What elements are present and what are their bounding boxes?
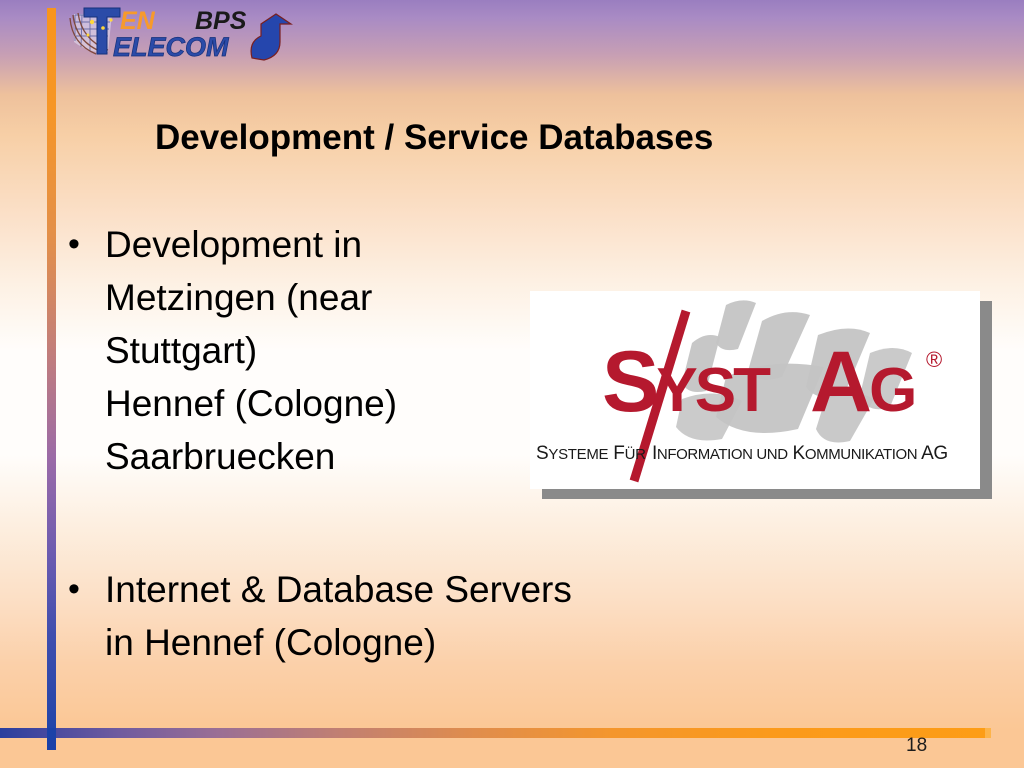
logo-word-en: EN	[120, 7, 156, 35]
image-card: SYST AG ® SYSTEME FÜR INFORMATION UND KO…	[530, 291, 980, 489]
bottom-bar-end-cap	[985, 728, 991, 738]
slide-canvas: EN ELECOM BPS Development / Service Data…	[0, 0, 1024, 768]
bullet-line-text: Internet & Database Servers	[105, 563, 748, 616]
bullet-line-text: Metzingen (near	[68, 271, 498, 324]
bullet-line-text: Hennef (Cologne)	[68, 377, 498, 430]
bullet-first-line: • Development in	[68, 218, 498, 271]
bullet-first-line: • Internet & Database Servers	[68, 563, 748, 616]
logo-word-elecom: ELECOM	[113, 32, 229, 62]
left-vertical-accent-bar	[47, 8, 56, 738]
bullet-marker-icon: •	[68, 563, 105, 616]
registered-trademark-icon: ®	[926, 347, 942, 372]
bullet-marker-icon: •	[68, 218, 105, 271]
page-number: 18	[906, 735, 927, 757]
bullet-line-text: Development in	[105, 218, 498, 271]
syst-tagline-right: INFORMATION UND KOMMUNIKATION AG	[652, 443, 948, 464]
bullet-item-2: • Internet & Database Servers in Hennef …	[68, 563, 748, 669]
logo-word-bps: BPS	[195, 7, 247, 35]
arrow-icon	[251, 14, 291, 60]
page-title: Development / Service Databases	[155, 118, 713, 158]
vertical-bar-foot	[47, 728, 56, 750]
bullet-line-text: Saarbruecken	[68, 430, 498, 483]
ten-bps-elecom-logo: EN ELECOM BPS	[62, 2, 302, 64]
bullet-item-1: • Development in Metzingen (near Stuttga…	[68, 218, 498, 483]
syst-ag-logo-image: SYST AG ® SYSTEME FÜR INFORMATION UND KO…	[530, 291, 980, 489]
bottom-horizontal-accent-bar	[0, 728, 990, 738]
bullet-line-text: Stuttgart)	[68, 324, 498, 377]
syst-tagline-left: SYSTEME FÜR	[536, 443, 646, 464]
bullet-line-text: in Hennef (Cologne)	[68, 616, 748, 669]
